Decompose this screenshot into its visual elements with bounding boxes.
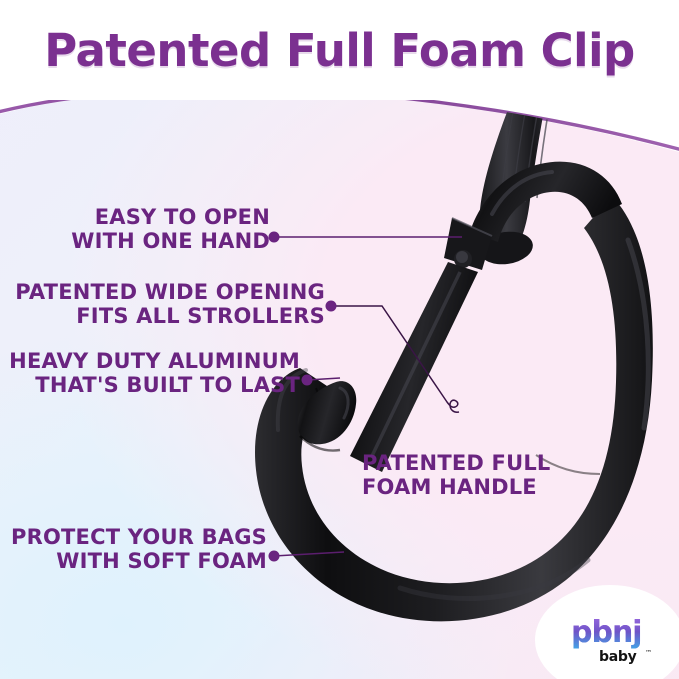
leader-easy-to-open (269, 232, 463, 243)
product-infographic: EASY TO OPEN WITH ONE HAND PATENTED WIDE… (0, 0, 679, 679)
logo-trademark-icon: ™ (645, 649, 652, 657)
leader-protect-your-bags (269, 551, 345, 562)
callout-protect-your-bags: PROTECT YOUR BAGS WITH SOFT FOAM (8, 526, 267, 573)
leader-patented-wide-opening (326, 301, 460, 413)
logo-subtext: baby (599, 649, 636, 665)
title-band: Patented Full Foam Clip (0, 0, 679, 100)
callout-patented-wide-opening: PATENTED WIDE OPENING FITS ALL STROLLERS (8, 281, 325, 328)
logo-wordmark: pbnj (571, 615, 642, 650)
brand-logo: pbnj pbnj baby ™ (561, 609, 671, 675)
page-title: Patented Full Foam Clip (44, 24, 635, 77)
leader-heavy-duty-aluminum (302, 375, 341, 386)
callout-easy-to-open: EASY TO OPEN WITH ONE HAND (20, 206, 270, 253)
logo-inner: pbnj pbnj baby ™ (561, 609, 671, 675)
callout-patented-full-foam-handle: PATENTED FULL FOAM HANDLE (362, 452, 572, 499)
callout-heavy-duty-aluminum: HEAVY DUTY ALUMINUM THAT'S BUILT TO LAST (8, 350, 300, 397)
callout-leader-lines (0, 0, 679, 679)
